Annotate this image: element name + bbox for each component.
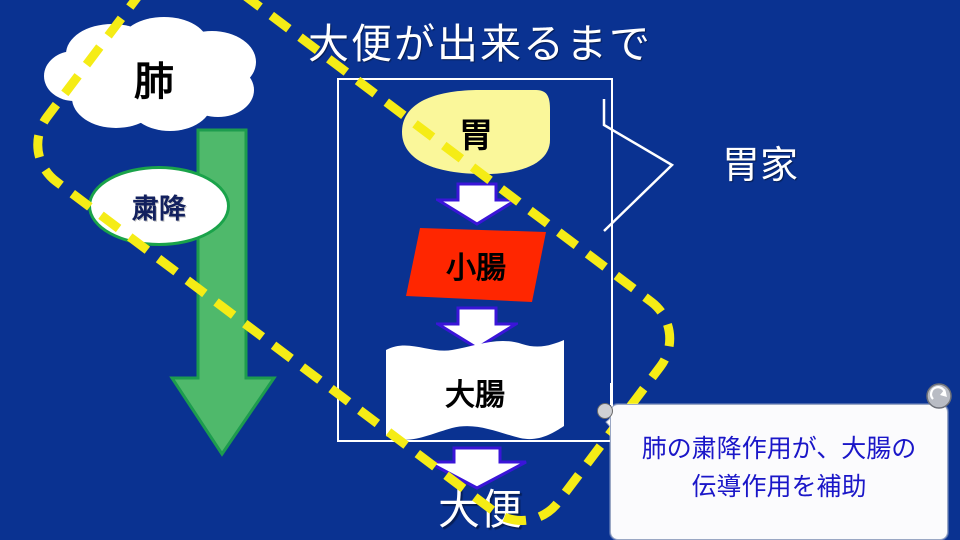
feces-label: 大便	[390, 478, 570, 534]
lung-descending-function-label: 粛降	[88, 166, 230, 246]
callout-selection-connector	[610, 383, 611, 405]
page-title: 大便が出来るまで	[260, 12, 700, 68]
callout-line-1: 肺の粛降作用が、大腸の	[642, 434, 917, 463]
tail-adjust-handle[interactable]	[597, 403, 613, 419]
callout-text: 肺の粛降作用が、大腸の 伝導作用を補助	[612, 418, 946, 518]
large-intestine-label: 大腸	[384, 344, 566, 440]
connector-arrow-stomach-to-small-intestine	[436, 182, 518, 226]
small-intestine-label: 小腸	[406, 226, 546, 304]
stomach-label: 胃	[400, 88, 552, 176]
gastric-system-label: 胃家	[690, 133, 830, 189]
lung-label: 肺	[38, 14, 270, 142]
presentation-slide: 大便が出来るまで 胃家 胃 小腸 大腸 大便	[0, 0, 960, 540]
callout-line-2: 伝導作用を補助	[691, 472, 866, 501]
rotation-handle-icon[interactable]	[926, 383, 952, 409]
